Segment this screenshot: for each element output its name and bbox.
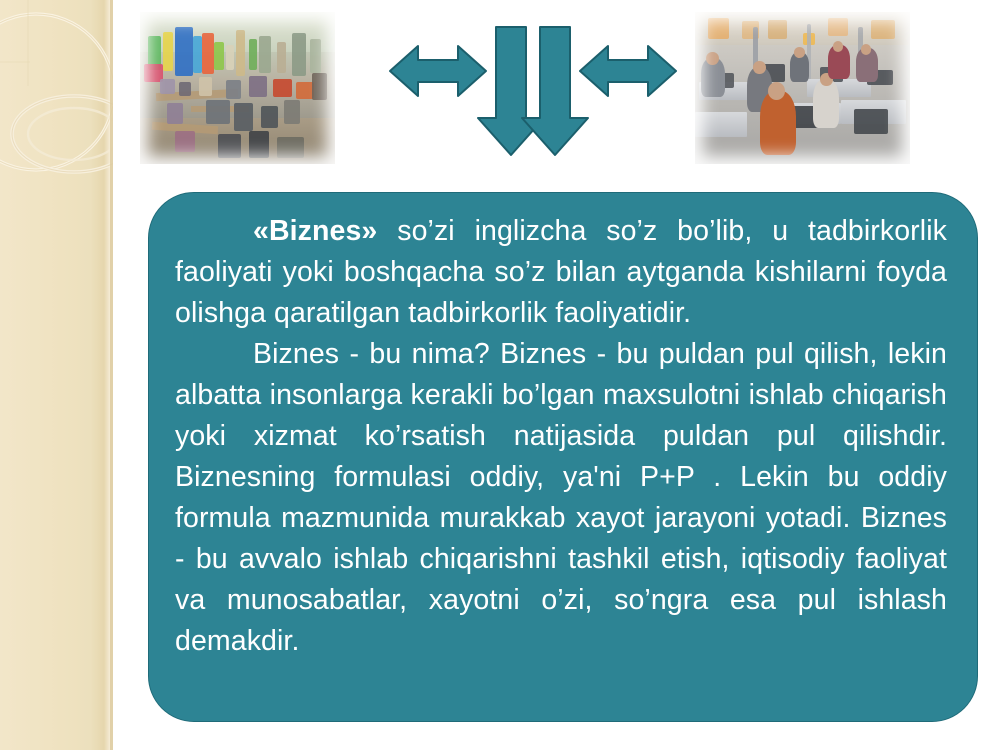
arrow-down-inner-left — [478, 27, 544, 155]
arrow-down-inner-right — [522, 27, 588, 155]
paragraph-1: «Biznes» so’zi inglizcha so’z bo’lib, u … — [175, 211, 947, 334]
sidebar-right-edge — [110, 0, 113, 750]
arrow-group — [388, 22, 678, 167]
slide-canvas: «Biznes» so’zi inglizcha so’z bo’lib, u … — [0, 0, 1000, 750]
sidebar-circles-decoration — [0, 0, 113, 750]
content-callout: «Biznes» so’zi inglizcha so’z bo’lib, u … — [148, 192, 978, 722]
arrow-right-left — [580, 46, 676, 96]
garment-factory-photo — [695, 12, 910, 164]
paragraph-2: Biznes - bu nima? Biznes - bu puldan pul… — [175, 334, 947, 662]
arrow-left-right — [390, 46, 486, 96]
retail-store-photo — [140, 12, 335, 164]
paragraph-2-text: Biznes - bu nima? Biznes - bu puldan pul… — [175, 338, 947, 657]
lead-term: «Biznes» — [253, 215, 377, 247]
decorative-sidebar — [0, 0, 113, 750]
